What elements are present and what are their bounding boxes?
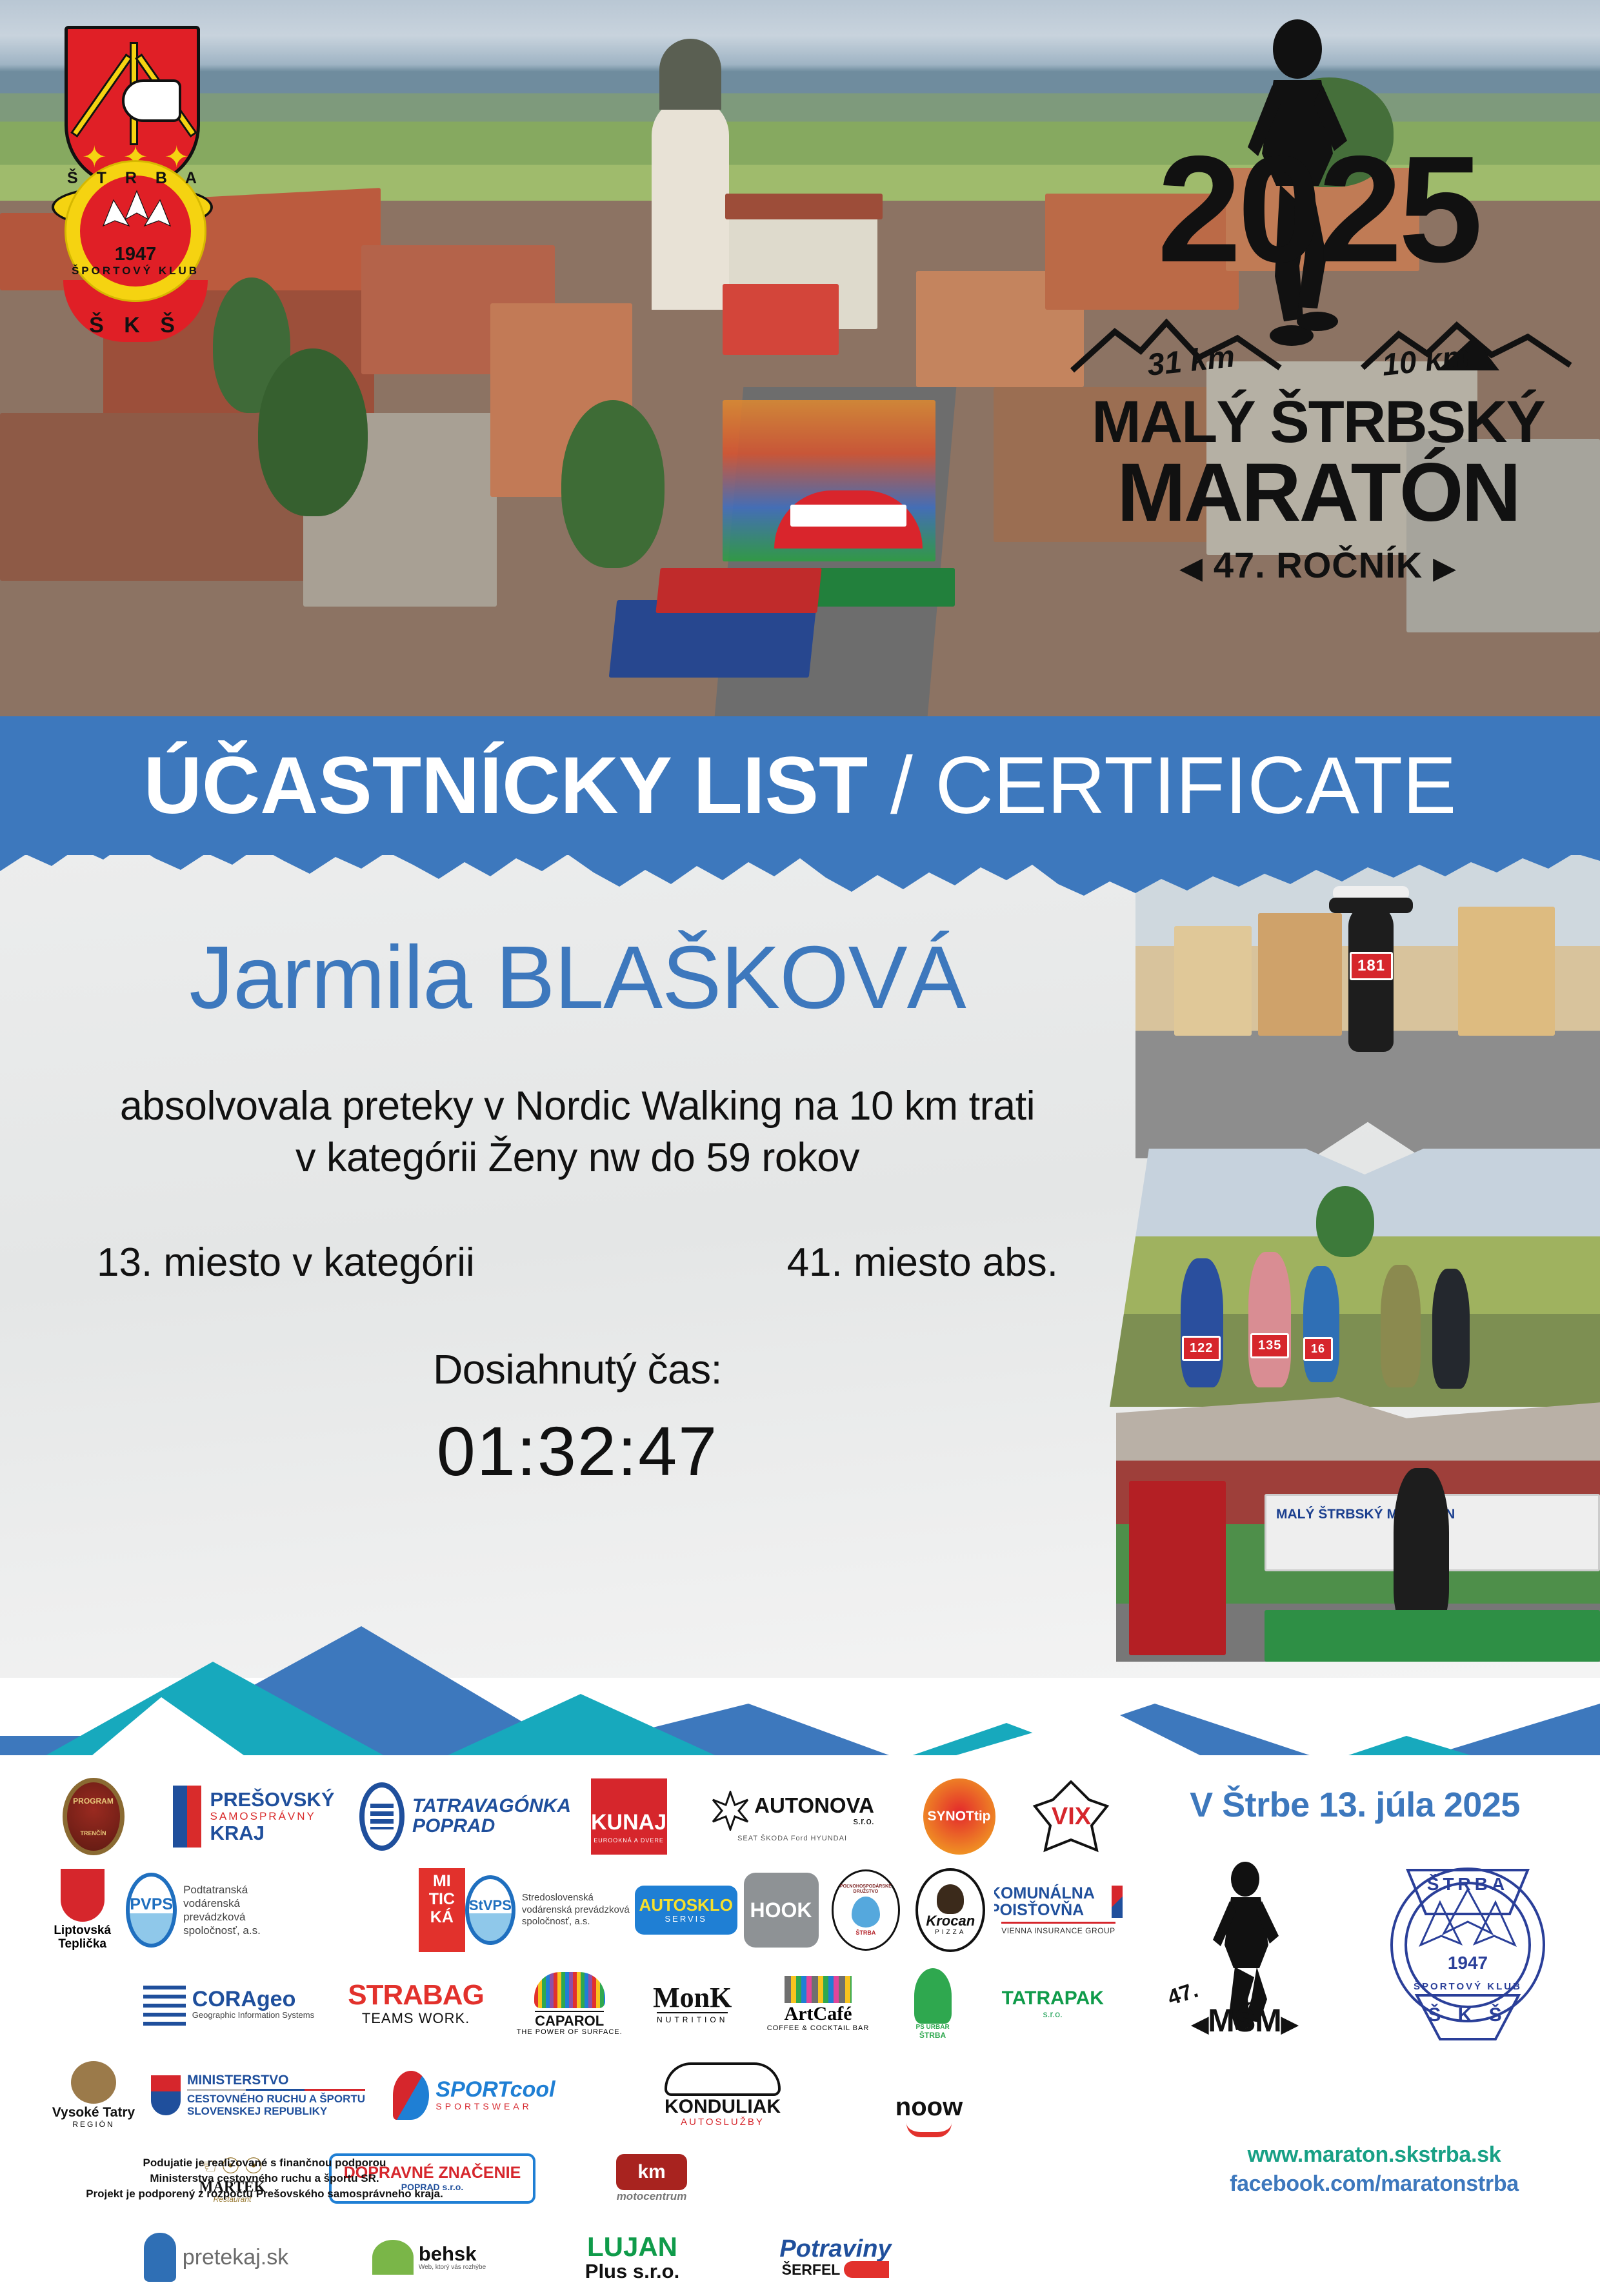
sponsor-sublabel: THE POWER OF SURFACE. (517, 2028, 623, 2036)
smile-icon (906, 2123, 952, 2137)
sponsor-km-motocentrum: km motocentrum (555, 2142, 748, 2216)
sponsor-sublabel: TEAMS WORK. (362, 2010, 470, 2027)
sponsor-sublabel: Plus s.r.o. (585, 2261, 679, 2282)
sponsor-label: LUJAN (587, 2233, 677, 2261)
sponsor-label: AUTOSKLO (639, 1897, 733, 1914)
placement-row: 13. miesto v kategórii 41. miesto abs. (0, 1240, 1155, 1285)
sponsor-sublabel: POPRAD (412, 1817, 571, 1837)
sponsor-sublabel: s.r.o. (754, 1816, 874, 1827)
bib-number: 122 (1182, 1336, 1221, 1361)
sponsor-sublabel: Geographic Information Systems (192, 2010, 314, 2020)
sponsor-label: MI TIC KÁ (419, 1872, 465, 1926)
sponsor-sublabel: motocentrum (617, 2190, 687, 2203)
runner-figure (1432, 1269, 1470, 1389)
banner-title-sk: ÚČASTNÍCKY LIST (144, 741, 868, 831)
sponsor-ministerstvo: MINISTERSTVO CESTOVNÉHO RUCHU A ŠPORTU S… (148, 2053, 368, 2137)
sponsor-pd-strba: POĽNOHOSPODÁRSKE DRUŽSTVO ŠTRBA (825, 1867, 906, 1954)
sponsor-label: Krocan (926, 1914, 975, 1928)
sks-stamp-top: ŠTRBA (1381, 1874, 1555, 1895)
sponsor-liptovska-teplicka: Liptovská Teplička (39, 1867, 126, 1954)
msm-abbrev: ◀MŠM▶ (1172, 2002, 1317, 2039)
church-roof (725, 194, 883, 219)
sponsor-label: noow (895, 2094, 963, 2120)
sponsor-artcafe: ArtCafé COFFEE & COCKTAIL BAR (754, 1962, 882, 2046)
sponsor-label: PROGRAM (73, 1797, 114, 1806)
sponsor-label: Liptovská (54, 1924, 111, 1938)
spruce-tree-icon (914, 1968, 952, 2024)
road (1135, 1049, 1600, 1158)
sponsor-sublabel: Podtatranská vodárenská prevádzková spol… (183, 1883, 295, 1938)
athlete-name: Jarmila BLAŠKOVÁ (0, 929, 1155, 1027)
sponsor-label: Vysoké Tatry (52, 2106, 135, 2119)
sponsor-label: km (637, 2162, 665, 2182)
sponsor-row: Liptovská Teplička PVPS Podtatranská vod… (39, 1865, 1123, 1955)
sponsor-label: TATRAVAGÓNKA (412, 1797, 571, 1817)
footer: PROGRAM TRENČÍN PREŠOVSKÝ SAMOSPRÁVNY KR… (0, 1755, 1600, 2264)
house (1174, 926, 1252, 1036)
description-line-1: absolvovala preteky v Nordic Walking na … (0, 1080, 1155, 1133)
sponsor-row: CORAgeo Geographic Information Systems S… (39, 1960, 1123, 2048)
sponsor-stvps: StVPS Stredoslovenská vodárenská prevádz… (465, 1867, 635, 1954)
sks-stamp-abbrev: Š K Š (1381, 2004, 1555, 2026)
sponsor-sublabel: ŠERFEL (782, 2262, 841, 2277)
venue-and-date: V Štrbe 13. júla 2025 (1148, 1785, 1561, 1825)
sponsor-row: Vysoké Tatry REGIÓN MINISTERSTVO CESTOVN… (39, 2051, 1123, 2139)
runner-icon (144, 2233, 176, 2282)
church-tower (652, 97, 729, 310)
sponsor-sublabel: COFFEE & COCKTAIL BAR (767, 2024, 870, 2032)
sponsor-label: KONDULIAK (665, 2097, 781, 2117)
elephant-icon (534, 1972, 605, 2008)
mountain-icon (98, 190, 175, 237)
house (1458, 907, 1555, 1036)
runner-figure (1248, 1252, 1291, 1387)
sponsor-presovsky-kraj: PREŠOVSKÝ SAMOSPRÁVNY KRAJ (148, 1778, 359, 1855)
sponsor-label: POĽNOHOSPODÁRSKE DRUŽSTVO (834, 1884, 898, 1894)
sks-year-label: 1947 (50, 244, 221, 265)
sponsor-pvps: PVPS Podtatranská vodárenská prevádzková… (126, 1867, 295, 1954)
sponsor-tatravagonka: TATRAVAGÓNKA POPRAD (359, 1778, 571, 1855)
place-absolute: 41. miesto abs. (787, 1240, 1058, 1285)
sponsor-corageo: CORAgeo Geographic Information Systems (134, 1962, 323, 2046)
runner-figure (1381, 1265, 1421, 1387)
sponsor-sublabel: s.r.o. (1043, 2009, 1063, 2019)
sponsor-sublabel: REGIÓN (72, 2120, 114, 2129)
turkey-icon (937, 1884, 964, 1914)
website-link[interactable]: www.maraton.skstrba.sk (1148, 2142, 1600, 2168)
sponsor-row: PROGRAM TRENČÍN PREŠOVSKÝ SAMOSPRÁVNY KR… (39, 1775, 1123, 1858)
sks-stamp-year: 1947 (1381, 1953, 1555, 1973)
sponsor-vysoke-tatry: Vysoké Tatry REGIÓN (39, 2053, 148, 2137)
marathon-name-line2: MARATÓN (1070, 452, 1566, 534)
funding-note-line-2: Ministerstva cestovného ruchu a športu S… (39, 2171, 490, 2186)
sks-abbrev: Š K Š (89, 313, 182, 338)
sponsor-grid: PROGRAM TRENČÍN PREŠOVSKÝ SAMOSPRÁVNY KR… (39, 1775, 1123, 2296)
sponsor-label: HOOK (750, 1900, 812, 1921)
time-label: Dosiahnutý čas: (0, 1344, 1155, 1396)
banner-title: ÚČASTNÍCKY LIST / CERTIFICATE (144, 745, 1457, 826)
sks-stamp-bottom: ŠPORTOVÝ KLUB (1381, 1981, 1555, 1992)
sponsor-label: pretekaj.sk (183, 2245, 288, 2270)
sponsor-synottip: SYNOTtip (898, 1778, 1020, 1855)
runners-photo: 122 135 16 (1110, 1149, 1600, 1407)
sponsor-sublabel: ŠTRBA (919, 2031, 946, 2040)
funding-note-line-1: Podujatie je realizované s finančnou pod… (39, 2155, 490, 2171)
hand-icon (122, 79, 181, 122)
sponsor-label: Potraviny (779, 2237, 891, 2262)
slovak-emblem-icon (151, 2075, 181, 2115)
sponsor-strabag: STRABAG TEAMS WORK. (324, 1962, 508, 2046)
sportcool-mark-icon (393, 2071, 429, 2120)
marathon-edition: ◀ 47. ROČNÍK ▶ (1070, 544, 1566, 586)
sponsor-sublabel: Teplička (54, 1938, 111, 1951)
sponsor-label: MonK (653, 1984, 732, 2013)
water-drop-icon (852, 1897, 880, 1928)
sponsor-label: CAPAROL (535, 2011, 604, 2028)
serfel-mark-icon (844, 2261, 889, 2278)
behsk-mark-icon (372, 2240, 414, 2275)
funding-note: Podujatie je realizované s finančnou pod… (39, 2155, 490, 2202)
kp-mark-icon (1112, 1886, 1123, 1918)
sponsor-label: PREŠOVSKÝ (210, 1789, 335, 1810)
sponsor-ps-urbar-strba: PS URBÁR ŠTRBA (883, 1962, 983, 2046)
sponsor-label: StVPS (469, 1898, 512, 1913)
sponsor-pretekaj: pretekaj.sk (110, 2220, 323, 2295)
sponsor-caparol: CAPAROL THE POWER OF SURFACE. (508, 1962, 631, 2046)
sponsor-sublabel: Web, ktorý vás rozhýbe (419, 2264, 486, 2271)
start-arch-label (790, 505, 906, 527)
sponsor-sublabel: SAMOSPRÁVNY (210, 1810, 335, 1823)
sponsor-potraviny-serfel: Potraviny ŠERFEL (729, 2220, 942, 2295)
sponsor-sublabel: SPORTSWEAR (435, 2101, 555, 2111)
certificate-title-banner: ÚČASTNÍCKY LIST / CERTIFICATE (0, 716, 1600, 855)
sponsor-sublabel: TRENČÍN (81, 1830, 106, 1837)
tent (655, 568, 821, 613)
teplicka-shield-icon (61, 1869, 105, 1922)
house (1258, 913, 1342, 1036)
sponsor-autosklo: AUTOSKLO SERVIS (635, 1867, 737, 1954)
sponsor-label: PVPS (130, 1897, 173, 1913)
finisher-figure (1394, 1468, 1449, 1629)
sponsor-label: ArtCafé (785, 2004, 852, 2024)
sponsor-label: SYNOTtip (928, 1809, 991, 1823)
sponsor-sublabel: NUTRITION (657, 2012, 728, 2024)
sponsor-label: behsk (419, 2244, 486, 2264)
footer-logos: 47. ◀MŠM▶ ŠTRBA 1947 ŠPORTOVÝ KLUB (1148, 1848, 1561, 2055)
place-in-category: 13. miesto v kategórii (97, 1240, 475, 1285)
sponsor-lujan: LUJAN Plus s.r.o. (535, 2220, 729, 2295)
sponsor-sublabel: ŠTRBA (855, 1929, 875, 1936)
description-line-2: v kategórii Ženy nw do 59 rokov (0, 1132, 1155, 1184)
sponsor-sublabel-2: SLOVENSKEJ REPUBLIKY (187, 2106, 365, 2117)
distance-row: 31 km 10 km (1070, 308, 1566, 386)
sponsor-behsk: behsk Web, ktorý vás rozhýbe (323, 2220, 535, 2295)
kraj-mark-icon (173, 1786, 201, 1848)
edelweiss-icon (71, 2061, 116, 2104)
sponsor-tatrapak: TATRAPAK s.r.o. (983, 1962, 1123, 2046)
finish-line-photo: MALÝ ŠTRBSKÝ MARATÓN (1116, 1397, 1600, 1662)
certificate-description: absolvovala preteky v Nordic Walking na … (0, 1080, 1155, 1184)
sponsor-sublabel: EUROOKNÁ A DVERE (594, 1837, 664, 1844)
sponsor-sportcool: SPORTcool SPORTSWEAR (368, 2053, 581, 2137)
certificate-content: Jarmila BLAŠKOVÁ absolvovala preteky v N… (0, 929, 1155, 1491)
sponsor-label: SPORTcool (435, 2079, 555, 2101)
sponsor-hook: HOOK (737, 1867, 825, 1954)
sponsor-label: VIX (1052, 1804, 1091, 1829)
artcafe-mark-icon (785, 1976, 852, 2003)
sponsor-sublabel: VIENNA INSURANCE GROUP (1001, 1922, 1115, 1935)
runner-figure (1303, 1266, 1339, 1382)
msm-logo: 47. ◀MŠM▶ (1163, 1855, 1324, 2042)
sponsor-label: TATRAPAK (1002, 1989, 1104, 2009)
sponsor-sublabel: Stredoslovenská vodárenská prevádzková s… (522, 1892, 635, 1928)
sponsor-label: AUTONOVA (754, 1795, 874, 1817)
sponsor-label: KUNAJ (591, 1811, 666, 1834)
sponsor-krocan-pizza: Krocan PIZZA (907, 1867, 994, 1954)
star-burst-icon (710, 1791, 750, 1831)
sponsor-brands: SEAT ŠKODA Ford HYUNDAI (737, 1835, 847, 1842)
funding-note-line-3: Projekt je podporený z rozpočtu Prešovsk… (39, 2186, 490, 2202)
sponsor-label: STRABAG (348, 1981, 484, 2010)
sponsor-label: PS URBÁR (915, 2024, 949, 2031)
marathon-year: 2025 (1070, 147, 1566, 272)
runner-figure (1181, 1258, 1223, 1387)
marathon-title-block: 2025 31 km 10 km MALÝ ŠTRBSKÝ MARATÓN ◀ … (1070, 18, 1566, 586)
sponsor-vysoke-tatry-spacer (39, 1962, 134, 2046)
sponsor-konduliak: KONDULIAK AUTOSLUŽBY (581, 2053, 865, 2137)
sks-bottom-label: ŠPORTOVÝ KLUB (50, 265, 221, 277)
photo-collage: 181 122 135 16 MALÝ ŠTRBSKÝ MARATÓN (1110, 855, 1600, 1662)
tree (561, 400, 665, 568)
finish-time: 01:32:47 (0, 1411, 1155, 1491)
sponsor-sublabel: SERVIS (665, 1914, 707, 1924)
facebook-link[interactable]: facebook.com/maratonstrba (1148, 2171, 1600, 2197)
sponsor-noow: noow (865, 2053, 994, 2137)
sponsor-sublabel-2: KRAJ (210, 1823, 335, 1844)
sks-club-logo: Š K Š Š T R B A 1947 ŠPORTOVÝ KLUB (50, 154, 218, 341)
church-spire (659, 39, 721, 110)
sponsor-program-trencin: PROGRAM TRENČÍN (39, 1778, 148, 1855)
sks-stamp: ŠTRBA 1947 ŠPORTOVÝ KLUB Š K Š (1381, 1855, 1555, 2042)
sponsor-komunalna-poistovna: KOMUNÁLNA POISŤOVŇA VIENNA INSURANCE GRO… (994, 1867, 1123, 1954)
sponsor-sublabel: CESTOVNÉHO RUCHU A ŠPORTU (187, 2093, 365, 2106)
sponsor-label: KOMUNÁLNA POISŤOVŇA (994, 1885, 1106, 1919)
sponsor-kunaj: KUNAJ EUROOKNÁ A DVERE (571, 1778, 686, 1855)
tree (1316, 1186, 1374, 1257)
marathon-name-line1: MALÝ ŠTRBSKÝ (1070, 392, 1566, 453)
sponsor-sublabel: PIZZA (935, 1929, 966, 1936)
bib-number: 135 (1250, 1333, 1289, 1358)
footer-right-column: V Štrbe 13. júla 2025 47. ◀MŠM▶ (1148, 1785, 1561, 2055)
sponsor-label: MINISTERSTVO (187, 2073, 365, 2087)
banner-separator: / (868, 741, 935, 831)
sponsor-sublabel: AUTOSLUŽBY (665, 2117, 781, 2128)
tatravagonka-mark-icon (359, 1782, 405, 1851)
sponsor-monk-nutrition: MonK NUTRITION (631, 1962, 754, 2046)
sponsor-autonova: AUTONOVA s.r.o. SEAT ŠKODA Ford HYUNDAI (686, 1778, 898, 1855)
tree (258, 348, 368, 516)
grid-icon (143, 1983, 186, 2026)
bib-number: 181 (1350, 952, 1393, 980)
bib-number: 16 (1303, 1337, 1333, 1361)
awning (723, 284, 839, 355)
web-links: www.maraton.skstrba.sk facebook.com/mara… (1148, 2142, 1600, 2197)
sponsor-vix: VIX (1020, 1778, 1123, 1855)
sponsor-row: pretekaj.sk behsk Web, ktorý vás rozhýbe… (39, 2219, 1123, 2296)
sponsor-label: CORAgeo (192, 1988, 314, 2011)
banner-title-en: CERTIFICATE (935, 741, 1457, 831)
sponsor-miticka: MI TIC KÁ (295, 1867, 465, 1954)
sks-top-label: Š T R B A (50, 169, 221, 188)
